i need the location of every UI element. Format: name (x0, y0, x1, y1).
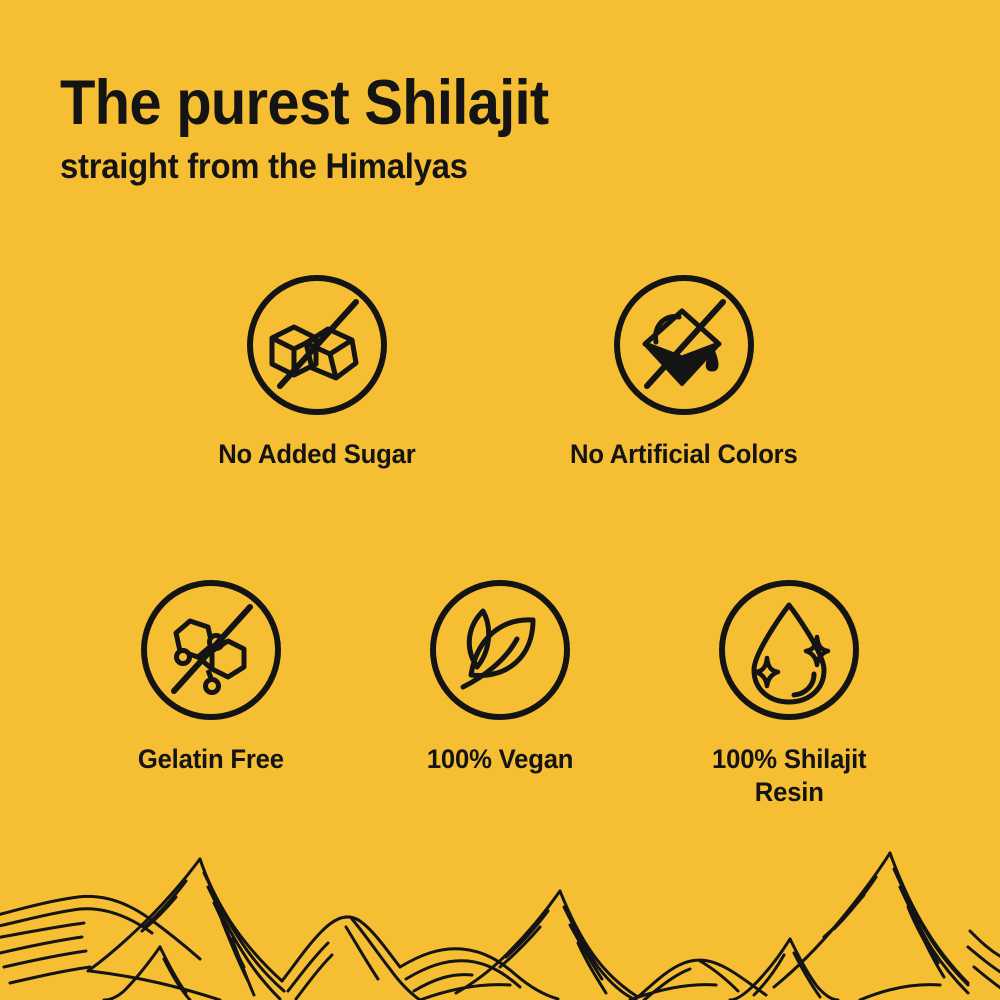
molecule-hexagons-icon (136, 575, 286, 725)
badge-label: No Added Sugar (218, 438, 415, 471)
page-subtitle: straight from the Himalyas (60, 149, 906, 184)
badge-gelatin-free[interactable]: Gelatin Free (67, 575, 356, 776)
badge-shilajit-resin[interactable]: 100% Shilajit Resin (645, 575, 934, 809)
badge-label: 100% Vegan (427, 743, 573, 776)
himalaya-mountain-line-art (0, 835, 1000, 1000)
badge-label: 100% Shilajit Resin (712, 743, 866, 809)
paint-bucket-drop-icon (609, 270, 759, 420)
badge-row-bottom: Gelatin Free 100% Vegan (0, 575, 1000, 809)
hero-text-block: The purest Shilajit straight from the Hi… (60, 72, 960, 184)
two-leaves-icon (425, 575, 575, 725)
badge-label: No Artificial Colors (570, 438, 798, 471)
badge-label: Gelatin Free (138, 743, 284, 776)
badge-vegan[interactable]: 100% Vegan (356, 575, 645, 776)
badge-row-top: No Added Sugar No Artificial Colors (0, 270, 1000, 471)
resin-droplet-sparkle-icon (714, 575, 864, 725)
badge-no-artificial-colors[interactable]: No Artificial Colors (500, 270, 867, 471)
badge-no-added-sugar[interactable]: No Added Sugar (133, 270, 500, 471)
page-title: The purest Shilajit (60, 72, 888, 135)
sugar-cubes-icon (242, 270, 392, 420)
promo-banner: The purest Shilajit straight from the Hi… (0, 0, 1000, 1000)
